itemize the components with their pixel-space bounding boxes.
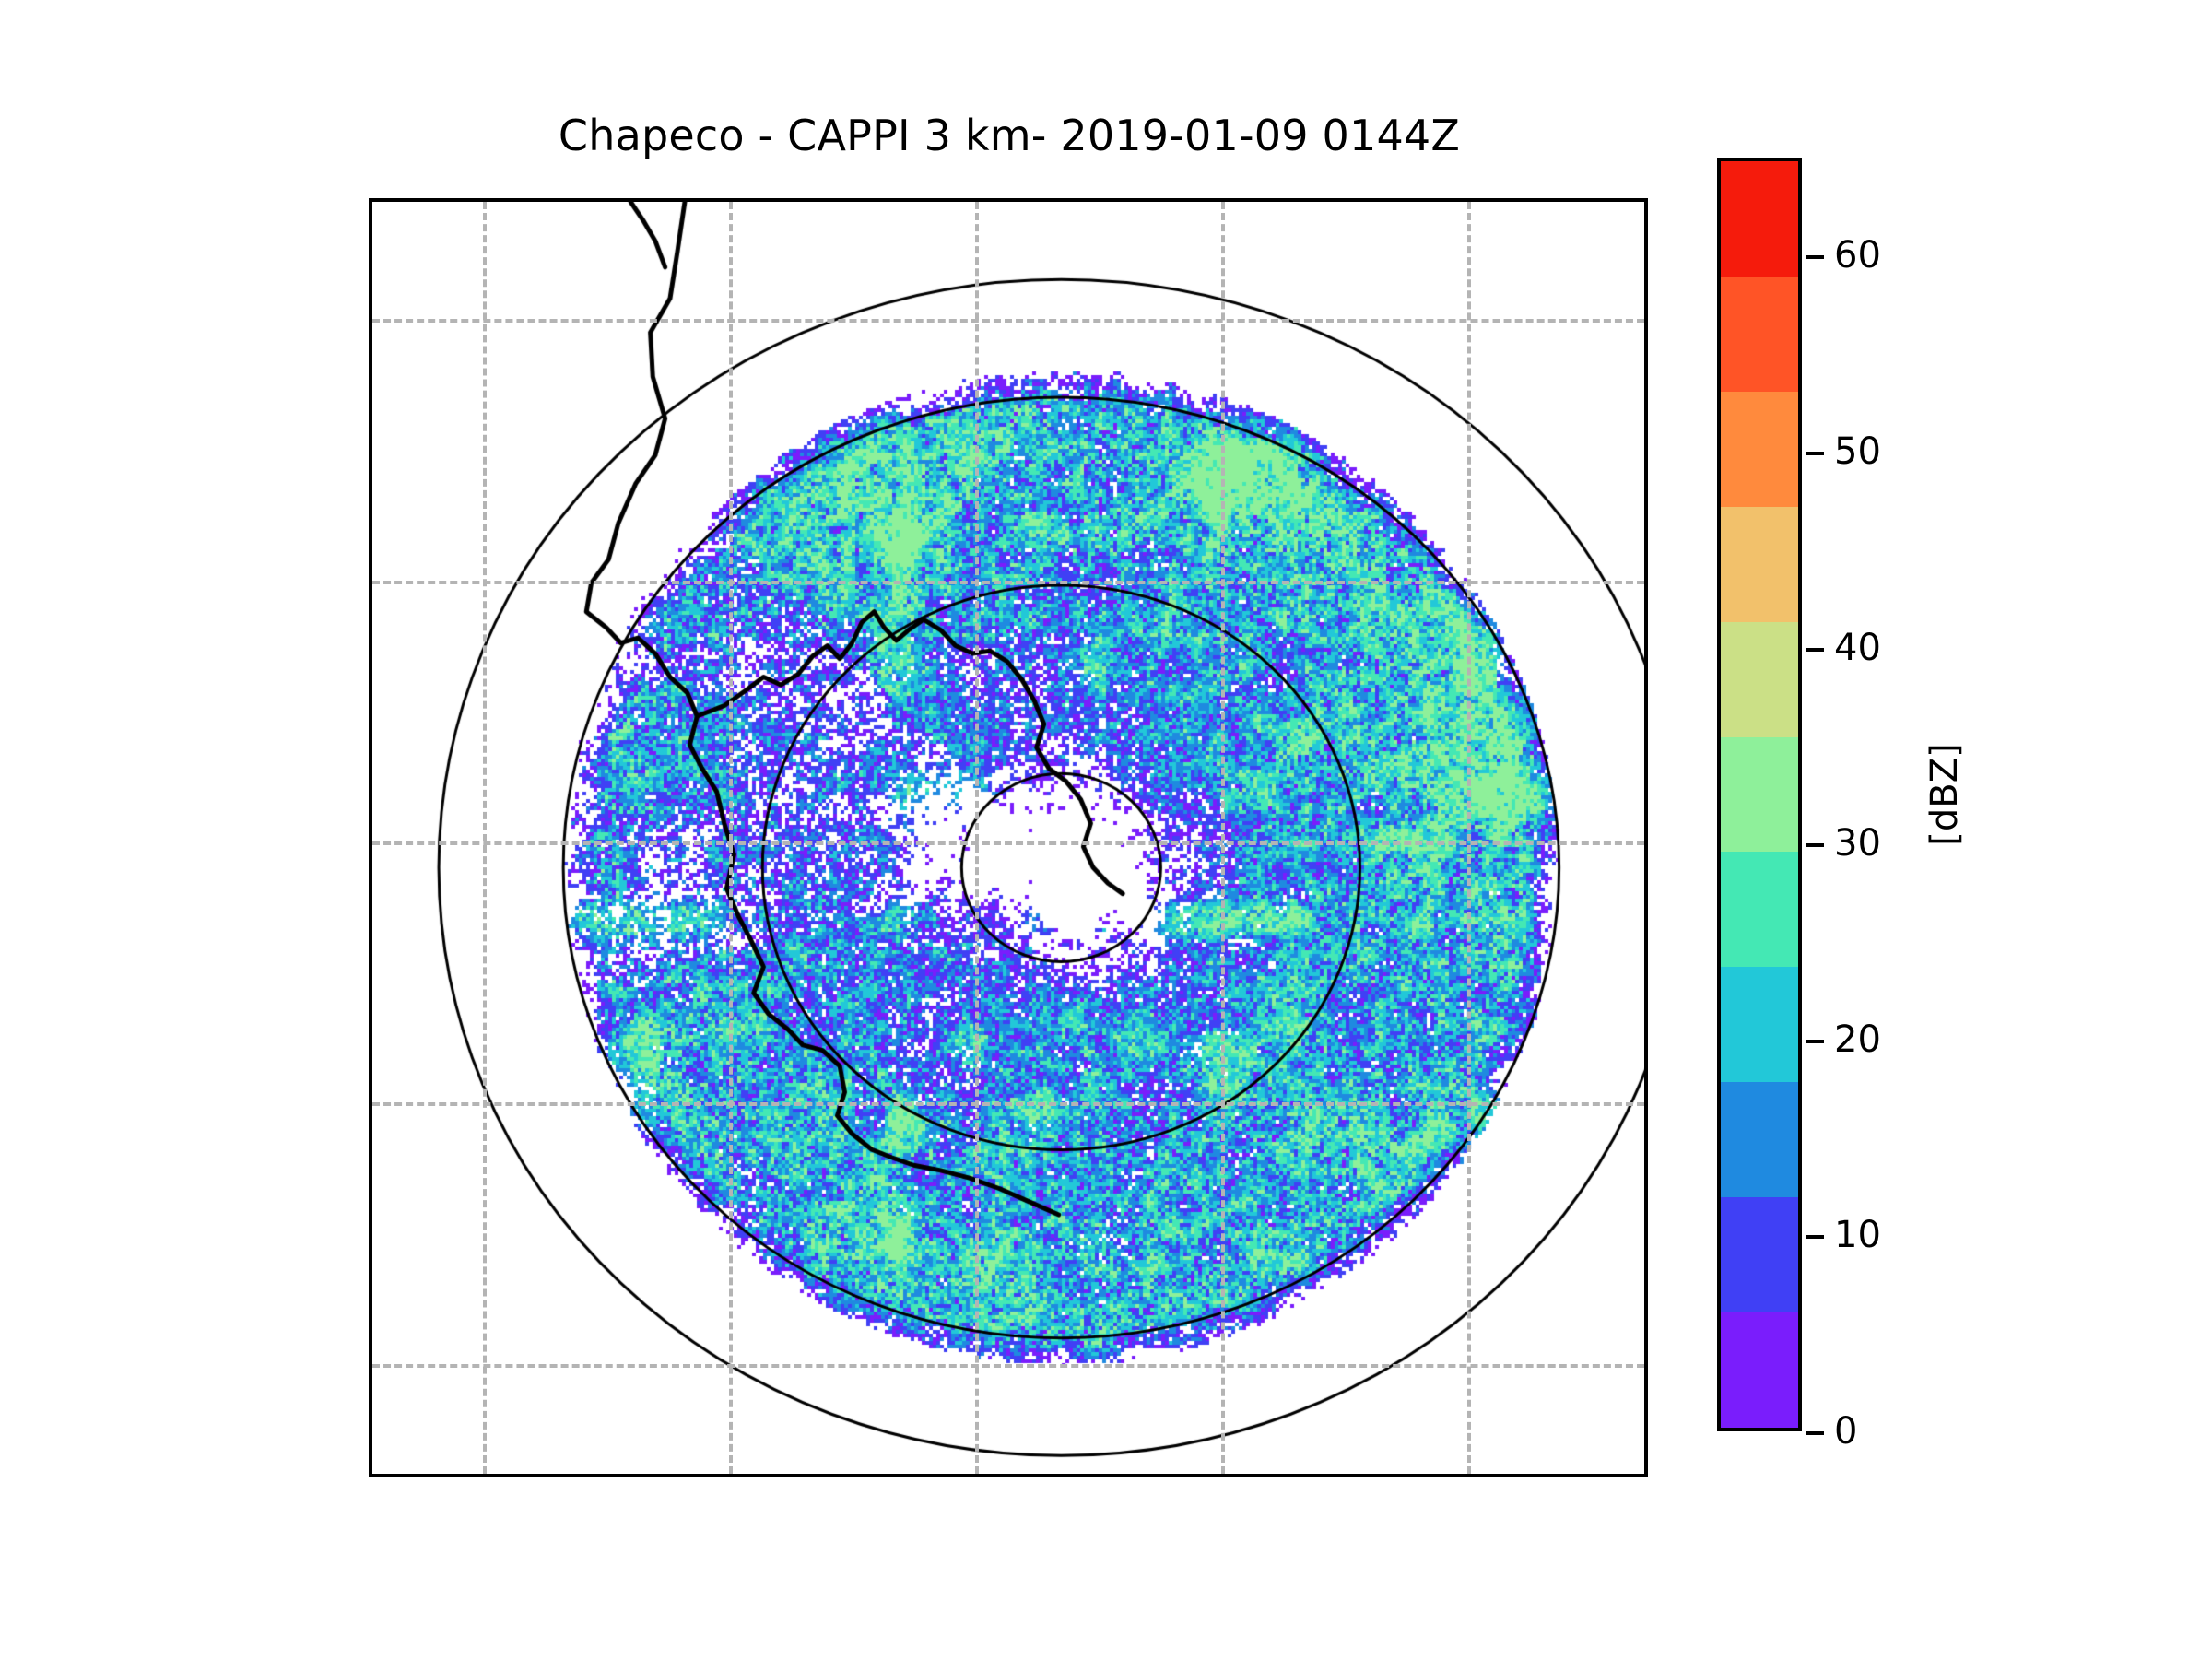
colorbar-segment — [1721, 1312, 1798, 1428]
colorbar-segment — [1721, 852, 1798, 967]
gridline-horizontal — [372, 841, 1644, 845]
colorbar-segment — [1721, 967, 1798, 1082]
y-tick-mark — [369, 1102, 372, 1105]
colorbar-label: [dBZ] — [1924, 743, 1966, 845]
colorbar-segment — [1721, 276, 1798, 392]
colorbar-segment — [1721, 507, 1798, 622]
gridline-horizontal — [372, 581, 1644, 584]
colorbar-tick-label: 0 — [1834, 1410, 1857, 1453]
colorbar-tick-label: 20 — [1834, 1018, 1881, 1061]
colorbar-tick-label: 50 — [1834, 430, 1881, 473]
colorbar-tick-mark — [1806, 1040, 1824, 1043]
colorbar-segment — [1721, 161, 1798, 276]
colorbar-tick-label: 10 — [1834, 1214, 1881, 1256]
colorbar-tick-label: 40 — [1834, 627, 1881, 669]
gridline-vertical — [975, 202, 979, 1474]
colorbar-tick-mark — [1806, 648, 1824, 652]
gridline-vertical — [729, 202, 733, 1474]
map-axes: 55°W54°W53°W52°W51°W — [369, 198, 1648, 1477]
radar-figure: Chapeco - CAPPI 3 km- 2019-01-09 0144Z 5… — [0, 0, 2212, 1659]
colorbar — [1717, 158, 1802, 1431]
colorbar-tick-mark — [1806, 452, 1824, 455]
colorbar-tick-label: 30 — [1834, 822, 1881, 865]
colorbar-tick-mark — [1806, 255, 1824, 259]
y-tick-mark — [369, 319, 372, 322]
gridline-horizontal — [372, 1364, 1644, 1368]
y-tick-mark — [369, 581, 372, 583]
colorbar-tick-mark — [1806, 1235, 1824, 1239]
page-title: Chapeco - CAPPI 3 km- 2019-01-09 0144Z — [369, 111, 1650, 160]
gridline-vertical — [483, 202, 487, 1474]
gridline-horizontal — [372, 1102, 1644, 1106]
colorbar-tick-label: 60 — [1834, 234, 1881, 276]
colorbar-segment — [1721, 392, 1798, 507]
gridline-horizontal — [372, 319, 1644, 323]
radar-echo-canvas — [372, 202, 1644, 1474]
gridline-vertical — [1221, 202, 1225, 1474]
colorbar-segment — [1721, 1082, 1798, 1197]
map-canvas-clip — [372, 202, 1644, 1474]
y-tick-mark — [369, 1364, 372, 1367]
colorbar-segment — [1721, 737, 1798, 853]
colorbar-tick-mark — [1806, 1431, 1824, 1435]
y-tick-mark — [369, 841, 372, 844]
colorbar-segment — [1721, 1197, 1798, 1312]
colorbar-segment — [1721, 622, 1798, 737]
colorbar-tick-mark — [1806, 843, 1824, 847]
gridline-vertical — [1467, 202, 1471, 1474]
